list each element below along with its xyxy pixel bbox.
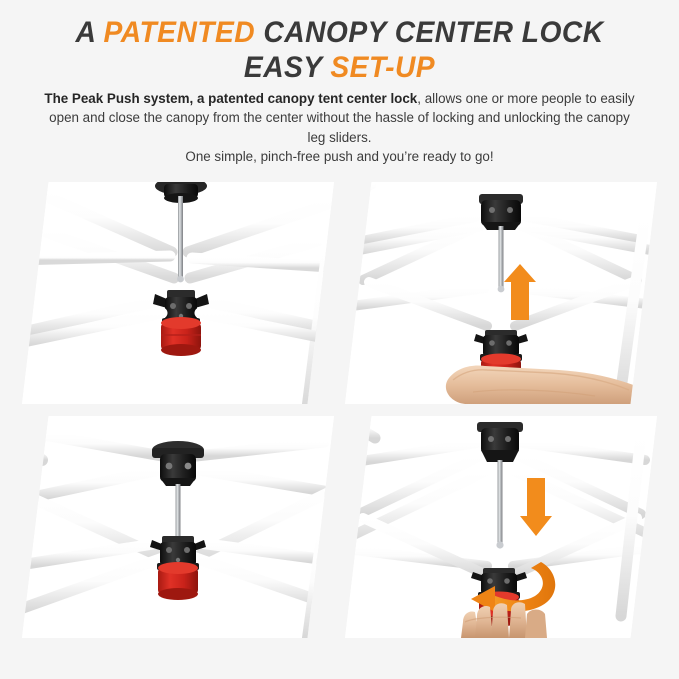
canopy-twist-release-illustration [345, 416, 657, 638]
headline-prefix: A [75, 16, 103, 49]
panel-open-extended [22, 182, 334, 404]
headline-accent-setup: SET-UP [330, 51, 435, 84]
panel-closed-locked [22, 416, 334, 638]
panel-push-up [345, 182, 657, 404]
headline-line-1: A PATENTED CANOPY CENTER LOCK [75, 16, 603, 49]
lock-collar-red [161, 317, 201, 356]
description-last-line: One simple, pinch-free push and you’re r… [185, 149, 493, 164]
canopy-push-up-illustration [345, 182, 657, 404]
top-hub [479, 194, 523, 230]
headline-line-2: EASY SET-UP [20, 53, 658, 83]
panel-twist-release [345, 416, 657, 638]
description-bold-lead: The Peak Push system, a patented canopy … [44, 91, 417, 106]
lock-collar-red [158, 562, 198, 600]
description-paragraph: The Peak Push system, a patented canopy … [42, 89, 637, 167]
headline-accent-patented: PATENTED [104, 16, 256, 49]
page-title: A PATENTED CANOPY CENTER LOCK EASY SET-U… [20, 18, 658, 83]
headline-easy: EASY [244, 51, 330, 84]
headline-suffix: CANOPY CENTER LOCK [255, 16, 603, 49]
panel-grid [0, 182, 679, 642]
canopy-frame-illustration [22, 182, 334, 404]
canopy-locked-illustration [22, 416, 334, 638]
product-feature-infographic: A PATENTED CANOPY CENTER LOCK EASY SET-U… [0, 0, 679, 679]
